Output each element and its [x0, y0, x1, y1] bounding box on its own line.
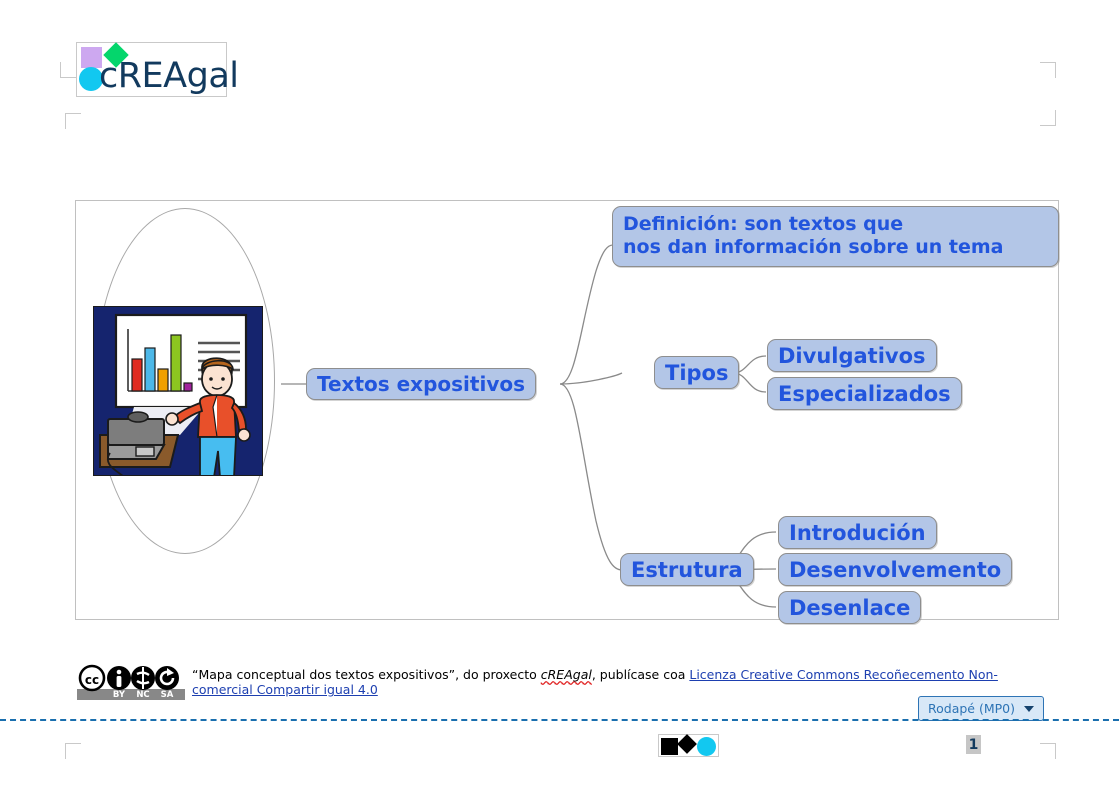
mindmap-node-divulgativos[interactable]: Divulgativos [767, 339, 937, 372]
license-link-line1[interactable]: Licenza Creative Commons Recoñecemento N… [689, 667, 998, 682]
text-frame-corner-guide [60, 62, 76, 78]
cyan-circle-icon [697, 737, 716, 756]
chevron-down-icon[interactable] [1024, 706, 1034, 712]
text-frame-corner-guide [1040, 62, 1056, 78]
mindmap-node-desenvolvemento[interactable]: Desenvolvemento [778, 553, 1012, 586]
mindmap-node-especializados[interactable]: Especializados [767, 377, 962, 410]
mindmap-node-label: Desenvolvemento [789, 558, 1001, 582]
cc-badge-graphic: cc BY NC SA [77, 664, 185, 700]
mindmap-node-label-line1: Definición: son textos que [623, 213, 1048, 236]
text-frame-corner-guide [65, 743, 81, 759]
mindmap-frame[interactable]: Textos expositivos Definición: son texto… [75, 200, 1059, 620]
svg-text:SA: SA [161, 690, 174, 700]
footer-attribution-text: “Mapa conceptual dos textos expositivos”… [192, 667, 1052, 698]
svg-text:NC: NC [136, 690, 149, 700]
caption-part2: , publícase coa [592, 667, 690, 682]
svg-text:cc: cc [85, 673, 99, 687]
mindmap-node-center[interactable]: Textos expositivos [306, 368, 536, 400]
text-frame-corner-guide [1040, 110, 1056, 126]
creative-commons-license-badge[interactable]: cc BY NC SA [77, 664, 185, 700]
document-page: cREAgal [0, 0, 1119, 796]
mindmap-node-label: Desenlace [789, 596, 910, 620]
caption-brand: cREAgal [541, 667, 592, 682]
mindmap-node-label: Divulgativos [778, 344, 926, 368]
black-square-icon [661, 738, 678, 755]
mindmap-node-desenlace[interactable]: Desenlace [778, 591, 921, 624]
rodape-label: Rodapé (MP0) [928, 701, 1015, 716]
mindmap-node-label: Introdución [789, 521, 926, 545]
text-frame-corner-guide [65, 113, 81, 129]
svg-text:BY: BY [113, 690, 126, 700]
footer-boundary-line [0, 719, 1119, 721]
black-diamond-icon [677, 734, 697, 754]
mindmap-node-label: Estrutura [631, 558, 743, 582]
logo-graphic: cREAgal [77, 43, 228, 98]
license-link-line2[interactable]: comercial Compartir igual 4.0 [192, 682, 378, 697]
mindmap-node-estrutura[interactable]: Estrutura [620, 553, 754, 586]
footer-shapes-group[interactable] [658, 734, 719, 757]
caption-part1: “Mapa conceptual dos textos expositivos”… [192, 667, 541, 682]
mindmap-node-label: Textos expositivos [317, 372, 525, 396]
mindmap-node-tipos[interactable]: Tipos [654, 356, 739, 389]
logo-wordmark: cREAgal [99, 56, 239, 96]
text-frame-corner-guide [1040, 743, 1056, 759]
page-number-field: 1 [966, 735, 981, 754]
mindmap-node-definicion[interactable]: Definición: son textos que nos dan infor… [612, 206, 1059, 267]
mindmap-node-label: Especializados [778, 382, 951, 406]
presenter-with-bar-chart-illustration[interactable] [93, 306, 263, 476]
mindmap-node-label-line2: nos dan información sobre un tema [623, 236, 1048, 259]
creagal-logo[interactable]: cREAgal [76, 42, 227, 97]
mindmap-node-label: Tipos [665, 361, 728, 385]
mindmap-node-introducion[interactable]: Introdución [778, 516, 937, 549]
rodape-dropdown-button[interactable]: Rodapé (MP0) [918, 696, 1044, 721]
illustration-graphic [94, 307, 263, 476]
